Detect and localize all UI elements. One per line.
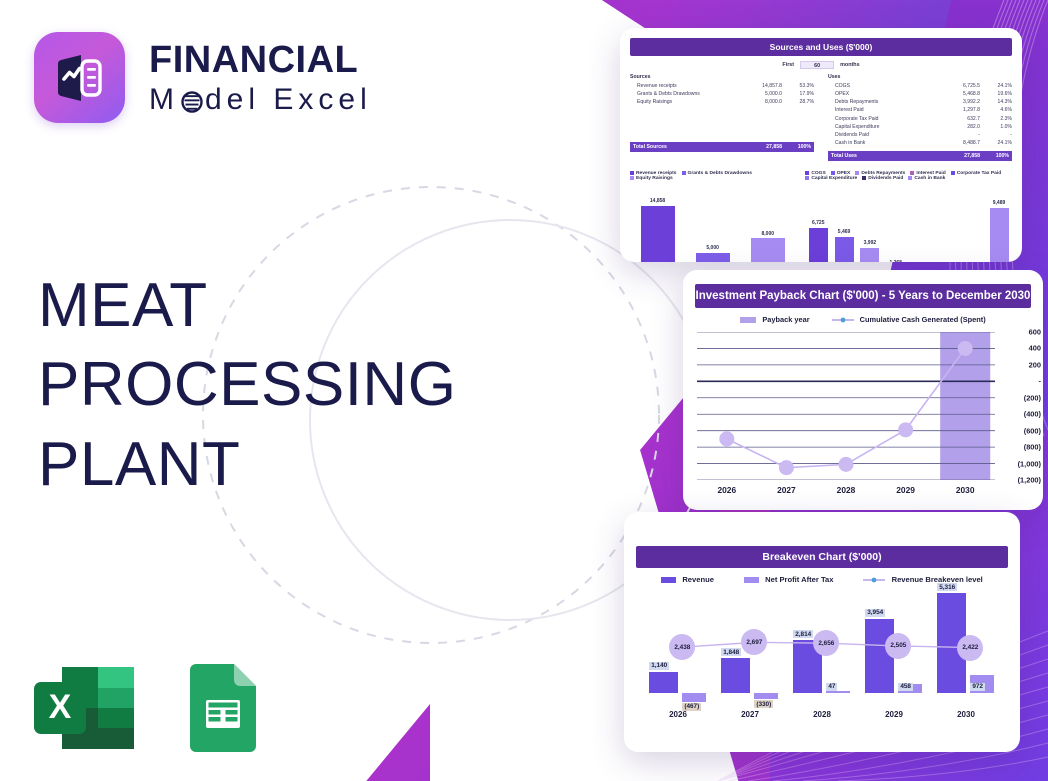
- sources-bar-chart: 14,8585,0008,000: [630, 181, 795, 263]
- svg-text:X: X: [49, 688, 72, 726]
- revenue-swatch: [661, 577, 676, 583]
- bar-value-label: 5,000: [706, 245, 719, 251]
- legend-swatch: [951, 171, 955, 175]
- bar-column: 14,858: [641, 181, 675, 263]
- total-uses-pct: 100%: [980, 153, 1012, 159]
- y-axis-tick-label: (200): [1024, 393, 1041, 402]
- x-axis-tick-label: 2028: [786, 710, 858, 719]
- bar-column: 3,992: [860, 181, 879, 263]
- total-uses-row: Total Uses 27,858 100%: [828, 151, 1012, 161]
- breakeven-legend-item-npat: Net Profit After Tax: [744, 575, 833, 584]
- y-axis-tick-label: 400: [1029, 344, 1041, 353]
- uses-table: Uses COGS6,725.524.1%OPEX5,468.819.6%Deb…: [828, 74, 1012, 161]
- npat-swatch: [744, 577, 759, 583]
- bar-value-label: 3,992: [864, 240, 877, 246]
- breakeven-title: Breakeven Chart ($'000): [636, 546, 1008, 568]
- source-row-pct: 28.7%: [782, 98, 814, 106]
- use-row-label: Dividends Paid: [828, 131, 942, 139]
- use-row-pct: 4.6%: [980, 106, 1012, 114]
- breakeven-legend: Revenue Net Profit After Tax Revenue Bre…: [624, 575, 1020, 584]
- x-axis-tick-label: 2027: [714, 710, 786, 719]
- legend-label: Corporate Tax Paid: [957, 171, 1001, 176]
- months-control: First 60 months: [630, 61, 1012, 69]
- x-axis-tick-label: 2026: [697, 485, 757, 495]
- x-axis-tick-label: 2026: [642, 710, 714, 719]
- use-row-value: 8,488.7: [942, 139, 980, 147]
- data-point: [719, 431, 734, 446]
- bar-value-label: 8,000: [762, 231, 775, 237]
- brand-line-2: M del Excel: [149, 85, 372, 115]
- total-uses-value: 27,858: [942, 153, 980, 159]
- data-point: [839, 457, 854, 472]
- breakeven-card: Breakeven Chart ($'000) Revenue Net Prof…: [624, 512, 1020, 752]
- payback-line-swatch: [832, 316, 854, 324]
- use-row-pct: 24.1%: [980, 139, 1012, 147]
- use-row-label: Capital Expenditure: [828, 123, 942, 131]
- months-input[interactable]: 60: [800, 61, 834, 69]
- bar-value-label: 14,858: [650, 198, 665, 204]
- table-row: Equity Raisings8,000.028.7%: [630, 98, 814, 106]
- breakeven-line-swatch: [863, 576, 885, 584]
- source-row-pct: 17.9%: [782, 90, 814, 98]
- months-suffix-label: months: [840, 62, 859, 68]
- payback-legend-label-0: Payback year: [762, 315, 809, 324]
- source-row-label: Grants & Debts Drawdowns: [630, 90, 744, 98]
- breakeven-legend-label-0: Revenue: [682, 575, 714, 584]
- cumulative-cash-line: [727, 348, 965, 467]
- bar: [835, 237, 854, 262]
- bar-column: 6,725: [809, 181, 828, 263]
- google-sheets-icon: [184, 658, 262, 758]
- legend-item: Corporate Tax Paid: [951, 171, 1001, 176]
- x-axis-tick-label: 2030: [935, 485, 995, 495]
- payback-y-axis-labels: 600400200-(200)(400)(600)(800)(1,000)(1,…: [997, 332, 1041, 480]
- bar-column: 0: [964, 181, 983, 263]
- table-row: Revenue receipts14,857.853.3%: [630, 82, 814, 90]
- payback-legend: Payback year Cumulative Cash Generated (…: [683, 315, 1043, 324]
- sources-uses-charts: Revenue receiptsGrants & Debts Drawdowns…: [630, 165, 1012, 261]
- total-sources-pct: 100%: [782, 144, 814, 150]
- data-point: [779, 460, 794, 475]
- source-row-value: 14,857.8: [744, 82, 782, 90]
- use-row-value: 3,992.2: [942, 98, 980, 106]
- months-prefix-label: First: [782, 62, 794, 68]
- source-row-value: 5,000.0: [744, 90, 782, 98]
- use-row-pct: 19.6%: [980, 90, 1012, 98]
- legend-item: Grants & Debts Drawdowns: [682, 171, 752, 176]
- table-row: COGS6,725.524.1%: [828, 82, 1012, 90]
- use-row-value: 5,468.8: [942, 90, 980, 98]
- page-title: MEAT PROCESSING PLANT: [38, 266, 456, 504]
- payback-legend-item-band: Payback year: [740, 315, 809, 324]
- total-sources-value: 27,858: [744, 144, 782, 150]
- legend-swatch: [682, 171, 686, 175]
- legend-swatch: [805, 171, 809, 175]
- sources-chart-legend: Revenue receiptsGrants & Debts Drawdowns…: [630, 171, 795, 181]
- sources-header: Sources: [630, 74, 814, 80]
- uses-header: Uses: [828, 74, 1012, 80]
- payback-legend-item-line: Cumulative Cash Generated (Spent): [832, 315, 986, 324]
- use-row-value: 6,725.5: [942, 82, 980, 90]
- bar-column: 8,000: [751, 181, 785, 263]
- legend-swatch: [908, 176, 912, 180]
- y-axis-tick-label: -: [1039, 377, 1041, 386]
- uses-chart-legend: COGSOPEXDebts RepaymentsInterest PaidCor…: [805, 171, 1012, 181]
- breakeven-x-axis-labels: 20262027202820292030: [642, 710, 1002, 719]
- table-row: Dividends Paid--: [828, 131, 1012, 139]
- payback-band-swatch: [740, 317, 756, 323]
- bar: [860, 248, 879, 262]
- breakeven-legend-item-revenue: Revenue: [661, 575, 714, 584]
- legend-swatch: [831, 171, 835, 175]
- x-axis-tick-label: 2029: [858, 710, 930, 719]
- bar: [990, 208, 1009, 262]
- use-row-label: COGS: [828, 82, 942, 90]
- table-row: Cash in Bank8,488.724.1%: [828, 139, 1012, 147]
- legend-swatch: [910, 171, 914, 175]
- bar-value-label: 6,725: [812, 220, 825, 226]
- brand-wordmark: FINANCIAL M del Excel: [149, 41, 372, 115]
- use-row-label: Corporate Tax Paid: [828, 115, 942, 123]
- x-axis-tick-label: 2029: [876, 485, 936, 495]
- total-sources-row: Total Sources 27,858 100%: [630, 142, 814, 152]
- bar-column: 9,489: [990, 181, 1009, 263]
- use-row-label: OPEX: [828, 90, 942, 98]
- brand-line-2-prefix: M: [149, 85, 179, 115]
- source-row-label: Equity Raisings: [630, 98, 744, 106]
- bar-column: 282: [938, 181, 957, 263]
- file-format-icons: X: [26, 658, 262, 758]
- y-axis-tick-label: (800): [1024, 443, 1041, 452]
- bar: [641, 206, 675, 262]
- investment-payback-card: Investment Payback Chart ($'000) - 5 Yea…: [683, 270, 1043, 510]
- y-axis-tick-label: (400): [1024, 410, 1041, 419]
- legend-swatch: [862, 176, 866, 180]
- bar-column: 1,268: [886, 181, 905, 263]
- bar-column: 633: [912, 181, 931, 263]
- data-point: [898, 422, 913, 437]
- breakeven-legend-item-breakeven: Revenue Breakeven level: [863, 575, 982, 584]
- source-row-label: Revenue receipts: [630, 82, 744, 90]
- y-axis-tick-label: 200: [1029, 360, 1041, 369]
- financial-chart-document-icon: [51, 49, 109, 107]
- table-row: Debts Repayments3,992.214.3%: [828, 98, 1012, 106]
- brand-line-2-suffix: del Excel: [205, 85, 372, 115]
- table-row: OPEX5,468.819.6%: [828, 90, 1012, 98]
- use-row-pct: 14.3%: [980, 98, 1012, 106]
- use-row-label: Interest Paid: [828, 106, 942, 114]
- y-axis-tick-label: (1,200): [1018, 476, 1041, 485]
- y-axis-tick-label: 600: [1029, 328, 1041, 337]
- source-row-value: 8,000.0: [744, 98, 782, 106]
- bar-value-label: 9,489: [993, 200, 1006, 206]
- y-axis-tick-label: (1,000): [1018, 459, 1041, 468]
- total-sources-label: Total Sources: [630, 144, 744, 150]
- source-row-pct: 53.3%: [782, 82, 814, 90]
- payback-plot-area: 600400200-(200)(400)(600)(800)(1,000)(1,…: [697, 332, 995, 480]
- breakeven-value-bubble: 2,422: [957, 635, 983, 661]
- y-axis-tick-label: (600): [1024, 426, 1041, 435]
- x-axis-tick-label: 2028: [816, 485, 876, 495]
- use-row-pct: 24.1%: [980, 82, 1012, 90]
- legend-swatch: [630, 176, 634, 180]
- legend-label: Grants & Debts Drawdowns: [688, 171, 752, 176]
- use-row-value: 1,297.8: [942, 106, 980, 114]
- legend-swatch: [855, 171, 859, 175]
- use-row-pct: -: [980, 131, 1012, 139]
- breakeven-plot-area: 1,140(467)2,4381,848(330)2,6972,814472,6…: [642, 588, 1002, 706]
- payback-x-axis-labels: 20262027202820292030: [697, 485, 995, 495]
- brand-line-1: FINANCIAL: [149, 41, 372, 79]
- bar: [751, 238, 785, 262]
- table-row: Grants & Debts Drawdowns5,000.017.9%: [630, 90, 814, 98]
- microsoft-excel-icon: X: [26, 658, 146, 758]
- table-row: Corporate Tax Paid632.72.3%: [828, 115, 1012, 123]
- uses-bar-chart: 6,7255,4693,9921,26863328209,489: [805, 181, 1012, 263]
- bar: [809, 228, 828, 262]
- use-row-label: Debts Repayments: [828, 98, 942, 106]
- bar-value-label: 5,469: [838, 229, 851, 235]
- poster-canvas: FINANCIAL M del Excel: [0, 0, 1048, 781]
- use-row-pct: 1.0%: [980, 123, 1012, 131]
- sources-and-uses-card: Sources and Uses ($'000) First 60 months…: [620, 28, 1022, 262]
- bar-column: 5,000: [696, 181, 730, 263]
- left-content-column: FINANCIAL M del Excel: [0, 0, 470, 781]
- table-row: Capital Expenditure282.01.0%: [828, 123, 1012, 131]
- total-uses-label: Total Uses: [828, 153, 942, 159]
- sources-uses-tables: Sources Revenue receipts14,857.853.3%Gra…: [630, 74, 1012, 161]
- payback-legend-label-1: Cumulative Cash Generated (Spent): [860, 315, 986, 324]
- use-row-value: -: [942, 131, 980, 139]
- data-point: [958, 341, 973, 356]
- legend-swatch: [805, 176, 809, 180]
- brand-logo-mark: [34, 32, 125, 123]
- legend-swatch: [630, 171, 634, 175]
- payback-chart-svg: [697, 332, 995, 480]
- bar-column: 5,469: [835, 181, 854, 263]
- bar-value-label: 1,268: [889, 260, 902, 262]
- use-row-pct: 2.3%: [980, 115, 1012, 123]
- sources-table: Sources Revenue receipts14,857.853.3%Gra…: [630, 74, 814, 161]
- bar: [696, 253, 730, 262]
- table-row: Interest Paid1,297.84.6%: [828, 106, 1012, 114]
- use-row-value: 282.0: [942, 123, 980, 131]
- brand-o-glyph-icon: [179, 85, 205, 115]
- payback-title: Investment Payback Chart ($'000) - 5 Yea…: [695, 284, 1031, 308]
- x-axis-tick-label: 2030: [930, 710, 1002, 719]
- sources-uses-title: Sources and Uses ($'000): [630, 38, 1012, 56]
- x-axis-tick-label: 2027: [757, 485, 817, 495]
- brand-lockup: FINANCIAL M del Excel: [34, 32, 372, 123]
- breakeven-legend-label-1: Net Profit After Tax: [765, 575, 833, 584]
- use-row-value: 632.7: [942, 115, 980, 123]
- use-row-label: Cash in Bank: [828, 139, 942, 147]
